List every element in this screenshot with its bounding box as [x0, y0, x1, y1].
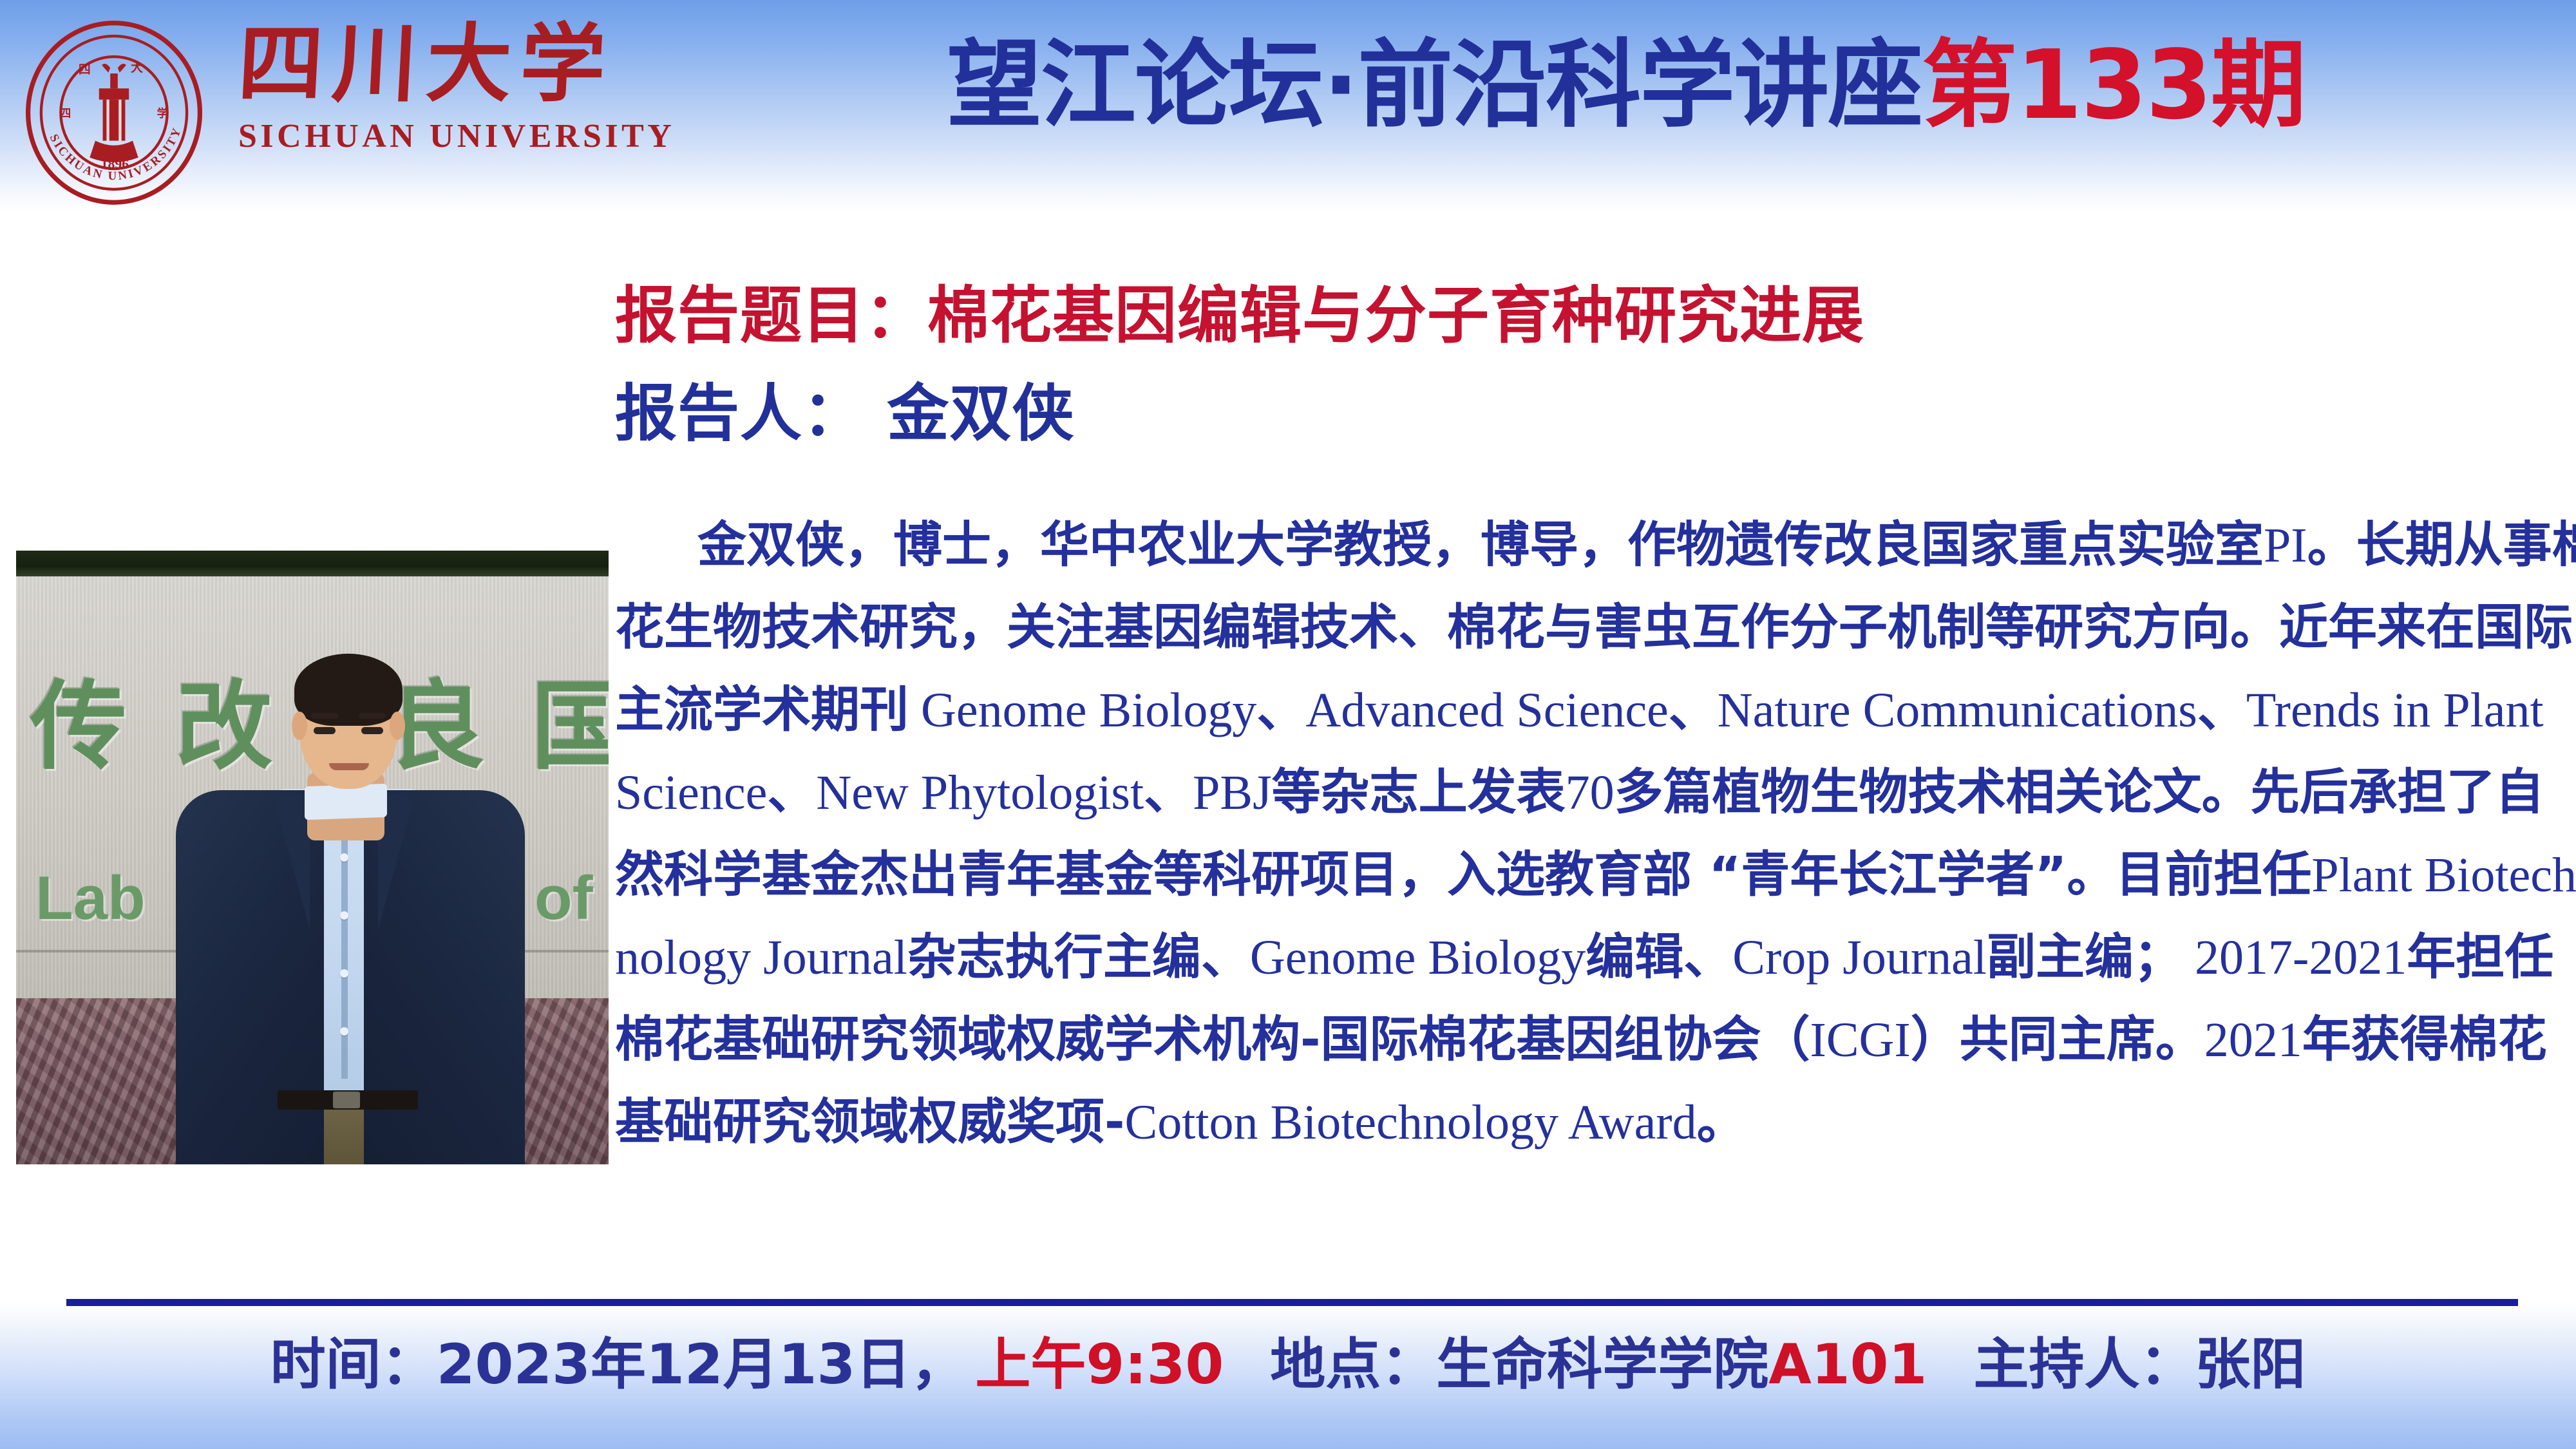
photo-person-mouth: [329, 763, 369, 770]
bio-run-cjk: 多篇植物生物技术相关论文。先后承担了自: [1615, 763, 2544, 820]
bio-run-cjk: 年担任: [2407, 928, 2553, 985]
bio-run-cjk: 等杂志上发表: [1272, 763, 1566, 820]
bio-run-latin: nology Journal: [615, 931, 907, 985]
bio-line: 金双侠，博士，华中农业大学教授，博导，作物遗传改良国家重点实验室PI。长期从事棉: [615, 504, 2534, 586]
bio-run-cjk: 基础研究领域权威奖项-: [615, 1093, 1125, 1150]
bio-line: 然科学基金杰出青年基金等科研项目，入选教育部 “青年长江学者”。目前担任Plan…: [615, 833, 2534, 916]
bio-run-cjk: 金双侠，博士，华中农业大学教授，博导，作物遗传改良国家重点实验室: [697, 516, 2264, 573]
bio-run-latin: Trends in Plant: [2246, 683, 2544, 737]
photo-shirt-button: [340, 911, 348, 920]
bio-run-cjk: 副主编；: [1987, 928, 2183, 985]
bio-run-cjk: 。: [1697, 1093, 1746, 1150]
bio-run-cjk: 、: [1256, 681, 1305, 738]
photo-shirt-button: [340, 969, 348, 978]
time-label: 时间：: [270, 1332, 437, 1397]
photo-person-ear-right: [390, 712, 405, 740]
speaker-photo: 传 改 良 国 Lab of: [16, 551, 609, 1164]
bio-run-cjk: 、: [1144, 763, 1193, 820]
bio-run-latin: Genome Biology: [909, 683, 1256, 737]
bio-run-cjk: 。长期从事棉: [2307, 516, 2576, 573]
lecture-series-banner-title: 望江论坛·前沿科学讲座第133期: [947, 37, 2305, 133]
photo-person-eyebrow-left: [311, 713, 338, 719]
university-wordmark: 四川大学 SICHUAN UNIVERSITY: [238, 22, 753, 155]
bio-run-latin: Crop Journal: [1732, 931, 1987, 985]
bio-run-latin: New Phytologist: [816, 766, 1144, 820]
bio-line: 基础研究领域权威奖项-Cotton Biotechnology Award。: [615, 1081, 2534, 1163]
bio-run-cjk: 、: [1669, 681, 1718, 738]
time-date: 2023年12月13日，: [437, 1332, 967, 1397]
speaker-bio: 金双侠，博士，华中农业大学教授，博导，作物遗传改良国家重点实验室PI。长期从事棉…: [615, 504, 2534, 1163]
bio-run-latin: Cotton Biotechnology Award: [1125, 1095, 1697, 1150]
header-spacer: [0, 213, 2576, 232]
wall-character-1: 传: [30, 678, 127, 775]
bio-run-cjk: 、: [2197, 681, 2246, 738]
bio-run-latin: PI: [2264, 518, 2307, 573]
photo-person-ear-left: [292, 712, 307, 740]
bio-run-cjk: 棉花基础研究领域权威学术机构-国际棉花基因组协会（: [615, 1010, 1810, 1068]
wall-character-4: 国: [531, 678, 609, 775]
photo-shirt-button: [340, 1027, 348, 1036]
photo-person-eye-left: [314, 727, 336, 734]
time-clock: 上午9:30: [975, 1332, 1224, 1397]
place-room: A101: [1768, 1332, 1927, 1397]
footer-divider: [66, 1299, 2518, 1306]
bio-run-cjk: 编辑、: [1586, 928, 1732, 985]
university-name-cn: 四川大学: [236, 22, 756, 107]
place-label: 地点：: [1270, 1332, 1436, 1397]
photo-shirt-button: [340, 853, 348, 862]
bio-run-cjk: 然科学基金杰出青年基金等科研项目，入选教育部 “青年长江学者”。目前担任: [615, 846, 2311, 903]
bio-line: nology Journal杂志执行主编、Genome Biology编辑、Cr…: [615, 916, 2534, 998]
wall-word-lab: Lab: [35, 867, 146, 929]
bio-run-latin: 2021: [2204, 1013, 2302, 1067]
host-name: 张阳: [2195, 1332, 2306, 1397]
svg-text:学: 学: [157, 107, 168, 120]
bio-run-cjk: ）共同主席。: [1911, 1010, 2204, 1068]
bio-run-latin: ICGI: [1810, 1013, 1911, 1067]
wall-word-of: of: [535, 867, 593, 929]
talk-speaker: 报告人： 金双侠: [615, 380, 1074, 448]
banner-title-issue: 第133期: [1922, 30, 2305, 140]
bio-run-latin: Science: [615, 766, 767, 820]
bio-run-latin: Genome Biology: [1250, 931, 1586, 985]
bio-run-cjk: 杂志执行主编、: [907, 928, 1250, 985]
bio-run-latin: Nature Communications: [1718, 683, 2197, 737]
photo-person-belt-buckle: [333, 1092, 360, 1108]
university-name-en: SICHUAN UNIVERSITY: [238, 117, 753, 155]
banner-title-main: 望江论坛·前沿科学讲座: [947, 30, 1922, 140]
bio-run-cjk: 年获得棉花: [2302, 1010, 2547, 1068]
wall-character-2: 改: [176, 678, 272, 775]
bio-line: 主流学术期刊 Genome Biology、Advanced Science、N…: [615, 668, 2534, 751]
photo-person-collar: [305, 784, 387, 820]
bio-run-cjk: 主流学术期刊: [615, 681, 909, 738]
bio-line: 棉花基础研究领域权威学术机构-国际棉花基因组协会（ICGI）共同主席。2021年…: [615, 998, 2534, 1081]
bio-run-latin: Plant Biotech-: [2311, 848, 2576, 902]
svg-text:四: 四: [79, 62, 91, 77]
svg-text:四: 四: [60, 108, 71, 120]
bio-run-cjk: 、: [767, 763, 816, 820]
talk-title: 报告题目：棉花基因编辑与分子育种研究进展: [615, 282, 1864, 350]
photo-background-hedge-top: [16, 551, 609, 576]
host-label: 主持人：: [1973, 1332, 2195, 1397]
bio-run-cjk: 花生物技术研究，关注基因编辑技术、棉花与害虫互作分子机制等研究方向。近年来在国际: [615, 598, 2573, 656]
sichuan-university-seal-icon: 四 大 四 学 1896 SICHUAN UNIVERSITY: [21, 19, 207, 206]
photo-person-eye-right: [361, 727, 383, 734]
bio-line: 花生物技术研究，关注基因编辑技术、棉花与害虫互作分子机制等研究方向。近年来在国际: [615, 586, 2534, 668]
bio-run-latin: PBJ: [1193, 766, 1272, 820]
bio-run-latin: 2017-2021: [2183, 931, 2407, 985]
bio-run-latin: Advanced Science: [1305, 683, 1668, 737]
photo-person-eyebrow-right: [359, 713, 386, 719]
place-name: 生命科学学院: [1436, 1332, 1768, 1397]
bio-run-latin: 70: [1566, 766, 1615, 820]
event-details: 时间：2023年12月13日，上午9:30地点：生命科学学院A101主持人：张阳: [0, 1334, 2576, 1396]
bio-line: Science、New Phytologist、PBJ等杂志上发表70多篇植物生…: [615, 751, 2534, 833]
svg-text:大: 大: [131, 60, 143, 75]
